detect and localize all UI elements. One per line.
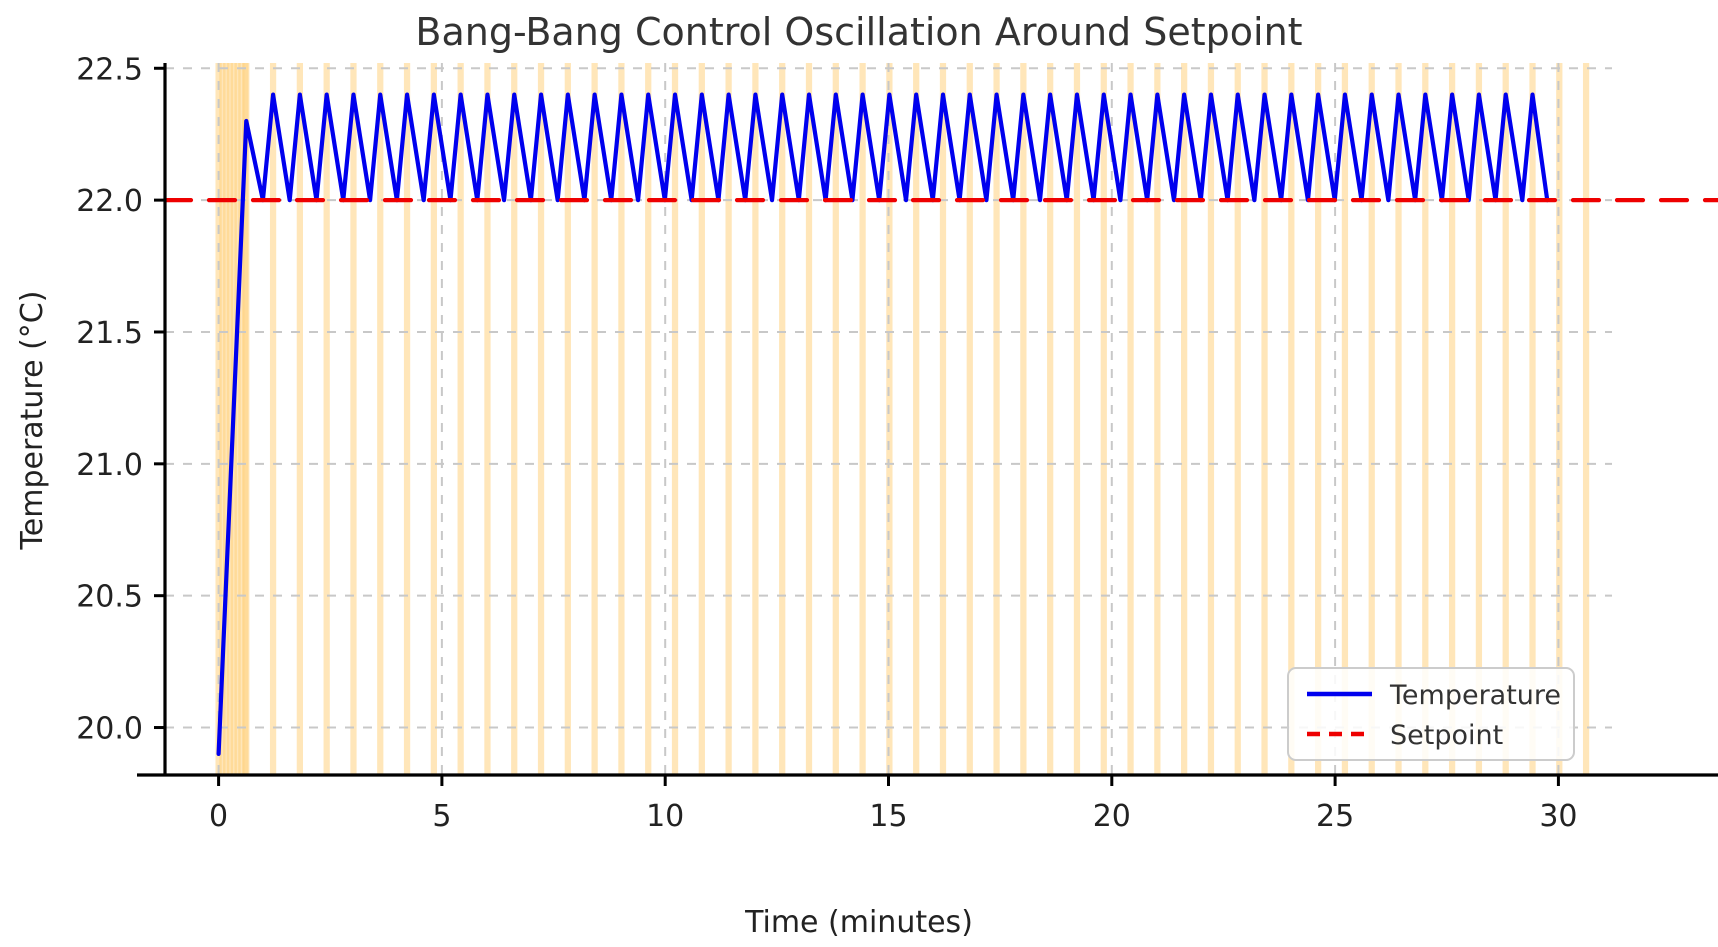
heater-on-band	[1154, 63, 1160, 775]
chart-legend[interactable]: Temperature Setpoint	[1288, 668, 1574, 760]
heater-on-band	[993, 63, 999, 775]
x-tick-label-4: 20	[1093, 799, 1131, 834]
heater-on-band	[1127, 63, 1133, 775]
heater-on-band	[1208, 63, 1214, 775]
x-tick-label-1: 5	[432, 799, 451, 834]
heater-on-band	[806, 63, 812, 775]
heater-on-band	[725, 63, 731, 775]
heater-on-band	[458, 63, 464, 775]
heater-on-band	[859, 63, 865, 775]
x-tick-label-3: 15	[869, 799, 907, 834]
heater-on-band	[913, 63, 919, 775]
heater-on-band	[618, 63, 624, 775]
y-tick-label-0: 20.0	[76, 712, 143, 747]
x-tick-label-2: 10	[646, 799, 684, 834]
heater-on-band	[538, 63, 544, 775]
heater-on-band	[940, 63, 946, 775]
heater-on-band	[350, 63, 356, 775]
heater-on-band	[752, 63, 758, 775]
heater-on-band	[377, 63, 383, 775]
heater-on-band	[1261, 63, 1267, 775]
x-axis-label: Time (minutes)	[744, 905, 973, 940]
heater-on-band	[645, 63, 651, 775]
y-axis-label: Temperature (°C)	[15, 291, 50, 551]
y-tick-label-4: 22.0	[76, 184, 143, 219]
heater-on-band	[886, 63, 892, 775]
chart-figure: Bang-Bang Control Oscillation Around Set…	[0, 0, 1718, 947]
legend-label-setpoint: Setpoint	[1390, 720, 1503, 751]
heater-on-band	[1101, 63, 1107, 775]
x-tick-label-6: 30	[1539, 799, 1577, 834]
x-tick-label-5: 25	[1316, 799, 1354, 834]
heater-on-band	[431, 63, 437, 775]
heater-on-band	[297, 63, 303, 775]
heater-on-band	[1181, 63, 1187, 775]
y-tick-label-2: 21.0	[76, 448, 143, 483]
heater-on-band	[1583, 63, 1589, 775]
heater-on-band	[779, 63, 785, 775]
heater-on-band	[511, 63, 517, 775]
y-tick-label-3: 21.5	[76, 316, 143, 351]
heater-on-band	[484, 63, 490, 775]
heater-on-band	[699, 63, 705, 775]
x-tick-label-0: 0	[209, 799, 228, 834]
heater-on-band	[833, 63, 839, 775]
heater-on-band	[404, 63, 410, 775]
plot-canvas: Bang-Bang Control Oscillation Around Set…	[0, 0, 1718, 947]
heater-on-band	[270, 63, 276, 775]
y-tick-label-1: 20.5	[76, 580, 143, 615]
heater-on-band	[1047, 63, 1053, 775]
heater-on-band	[1235, 63, 1241, 775]
heater-on-band	[324, 63, 330, 775]
heater-on-band	[1020, 63, 1026, 775]
heater-on-band	[1074, 63, 1080, 775]
legend-label-temperature: Temperature	[1389, 680, 1561, 711]
heater-on-band	[565, 63, 571, 775]
heater-on-band	[592, 63, 598, 775]
chart-title: Bang-Bang Control Oscillation Around Set…	[415, 10, 1302, 54]
heater-on-band	[672, 63, 678, 775]
heater-on-band	[967, 63, 973, 775]
y-tick-label-5: 22.5	[76, 52, 143, 87]
